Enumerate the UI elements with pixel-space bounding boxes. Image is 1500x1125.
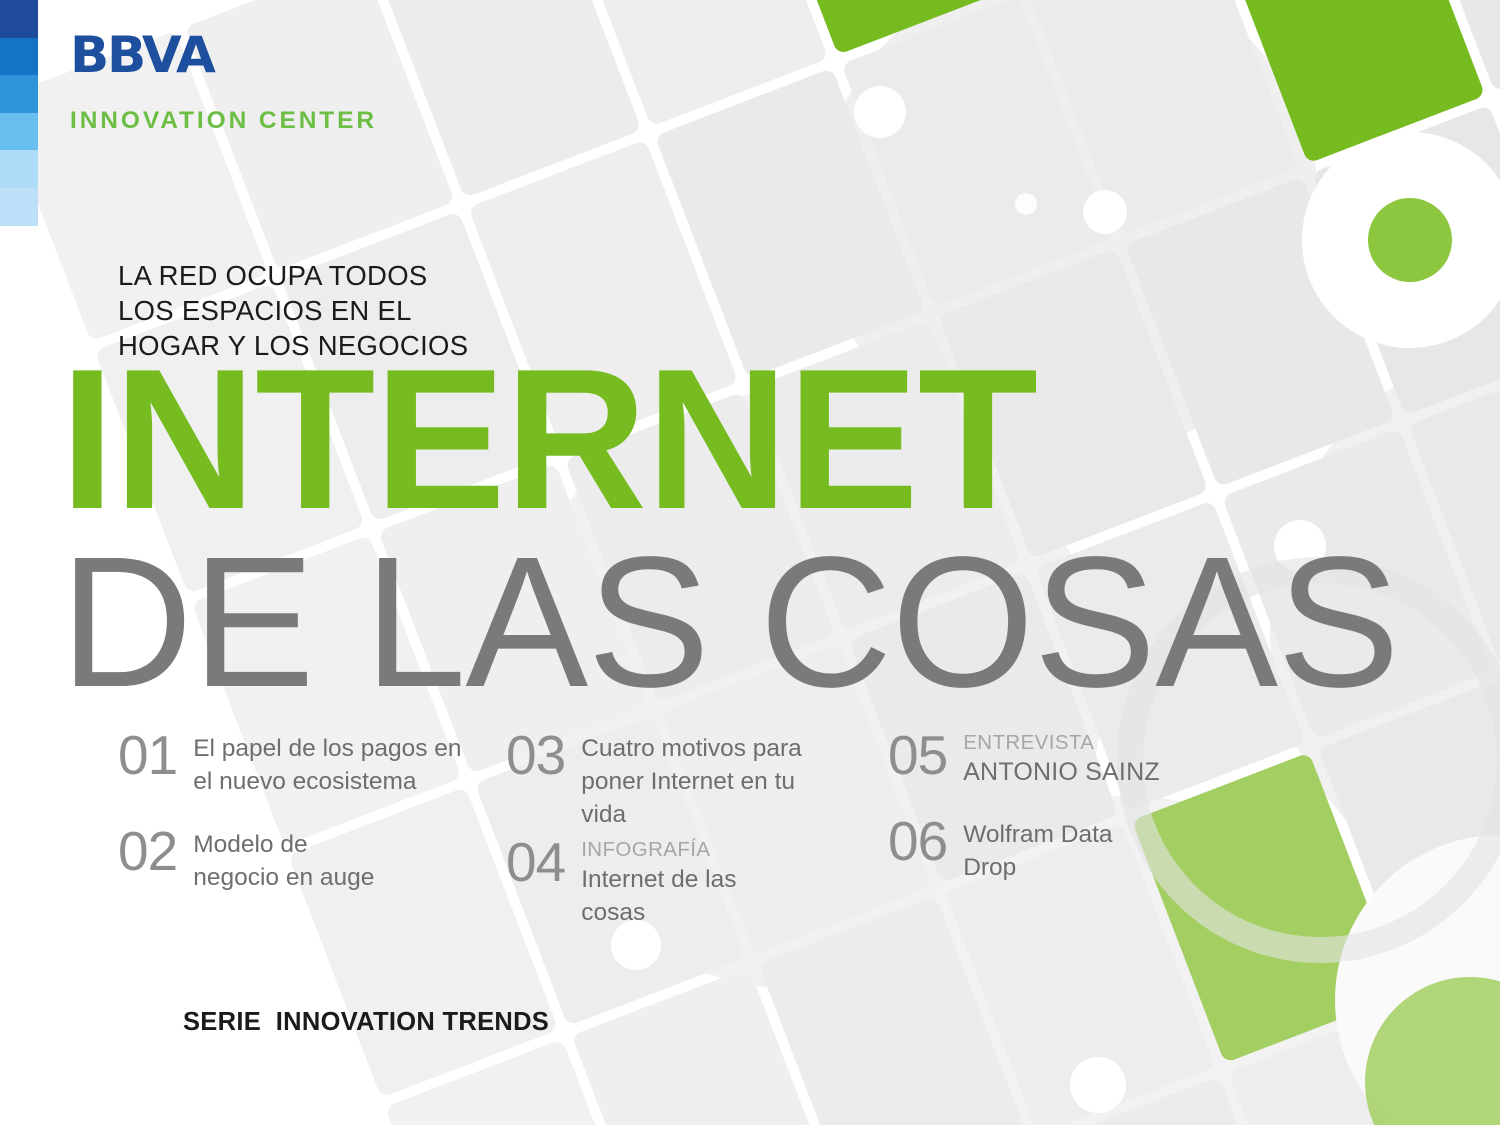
toc-title: Cuatro motivos para poner Internet en tu… [581, 732, 802, 831]
toc-title: Wolfram Data Drop [963, 818, 1112, 884]
toc-text: Wolfram Data Drop [963, 812, 1112, 884]
toc-title: Modelo de negocio en auge [193, 828, 374, 894]
toc-kicker-label: INFOGRAFÍA [581, 839, 736, 861]
cover-title-sub: DE LAS COSAS [60, 528, 1399, 718]
toc-title: El papel de los pagos en el nuevo ecosis… [193, 732, 461, 798]
series-label: SERIE INNOVATION TRENDS [183, 1008, 549, 1037]
toc-text: ENTREVISTA ANTONIO SAINZ [963, 726, 1160, 789]
brand-color-band-4 [0, 113, 38, 151]
bbva-wordmark: BBVA [70, 30, 386, 80]
toc-text: Modelo de negocio en auge [193, 822, 374, 894]
toc-number: 04 [506, 833, 565, 891]
brand-color-band-6 [0, 188, 38, 226]
toc-column-1: 01 El papel de los pagos en el nuevo eco… [118, 726, 506, 894]
toc-item-04[interactable]: 04 INFOGRAFÍA Internet de las cosas [506, 833, 888, 929]
toc-number: 02 [118, 822, 177, 880]
toc-text: INFOGRAFÍA Internet de las cosas [581, 833, 736, 929]
toc-number: 01 [118, 726, 177, 784]
brand-color-strip [0, 0, 38, 226]
toc-number: 05 [888, 726, 947, 784]
brand-logo: BBVA INNOVATION CENTER [70, 30, 377, 134]
table-of-contents: 01 El papel de los pagos en el nuevo eco… [118, 726, 1208, 929]
toc-number: 03 [506, 726, 565, 784]
toc-item-02[interactable]: 02 Modelo de negocio en auge [118, 822, 506, 894]
cover-title-main: INTERNET [60, 340, 1037, 540]
toc-title: ANTONIO SAINZ [963, 756, 1160, 789]
brand-color-band-2 [0, 38, 38, 76]
toc-number: 06 [888, 812, 947, 870]
toc-item-06[interactable]: 06 Wolfram Data Drop [888, 812, 1208, 884]
toc-kicker-label: ENTREVISTA [963, 732, 1160, 754]
brand-color-band-3 [0, 75, 38, 113]
toc-item-01[interactable]: 01 El papel de los pagos en el nuevo eco… [118, 726, 506, 798]
innovation-center-label: INNOVATION CENTER [70, 109, 377, 134]
toc-column-3: 05 ENTREVISTA ANTONIO SAINZ 06 Wolfram D… [888, 726, 1208, 884]
toc-item-03[interactable]: 03 Cuatro motivos para poner Internet en… [506, 726, 888, 831]
brand-color-band-1 [0, 0, 38, 38]
toc-text: El papel de los pagos en el nuevo ecosis… [193, 726, 461, 798]
toc-item-05[interactable]: 05 ENTREVISTA ANTONIO SAINZ [888, 726, 1208, 789]
toc-title: Internet de las cosas [581, 863, 736, 929]
toc-text: Cuatro motivos para poner Internet en tu… [581, 726, 802, 831]
brand-color-band-5 [0, 150, 38, 188]
toc-column-2: 03 Cuatro motivos para poner Internet en… [506, 726, 888, 929]
